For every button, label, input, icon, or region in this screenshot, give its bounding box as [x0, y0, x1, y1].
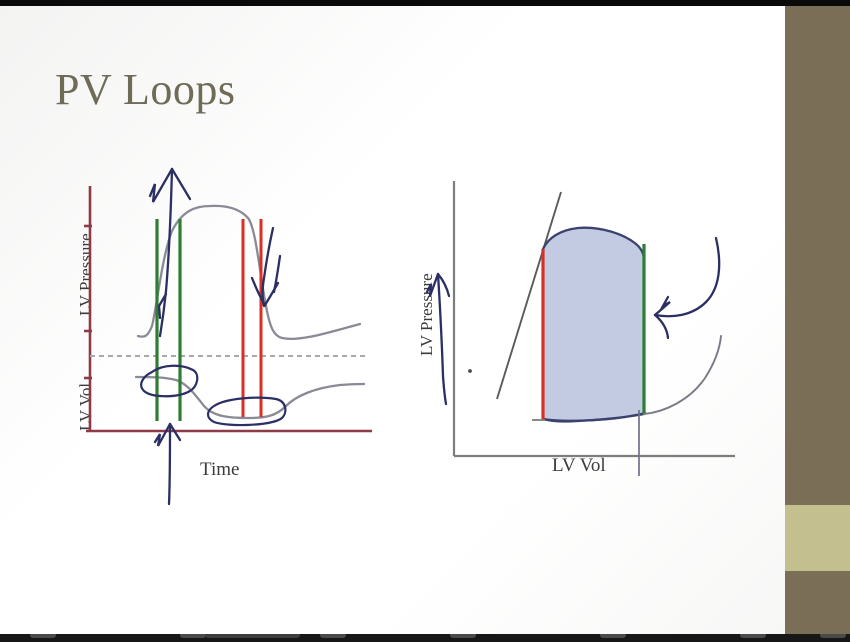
- right-chart-pv-loop-shape: [543, 228, 644, 422]
- annotation-up-arrow-baseline: [155, 424, 180, 504]
- page-title: PV Loops: [55, 64, 235, 115]
- left-chart-pressure-curve: [138, 206, 360, 339]
- player-bar-segment[interactable]: [30, 634, 56, 638]
- player-bar-segment[interactable]: [180, 634, 206, 638]
- presentation-slide: PV Loops LV Pressure LV Vol Time LV Pres…: [0, 6, 785, 636]
- video-frame: PV Loops LV Pressure LV Vol Time LV Pres…: [0, 0, 850, 642]
- left-chart-y-axis-label-volume: LV Vol: [76, 383, 96, 431]
- annotation-curved-arrow-to-green-edge: [655, 238, 719, 338]
- side-panel-light-band: [785, 505, 850, 571]
- annotation-down-arrow-relaxation: [252, 228, 280, 306]
- player-bar-segment[interactable]: [450, 634, 476, 638]
- left-chart-y-axis-label-pressure: LV Pressure: [76, 233, 96, 316]
- player-bar-segment[interactable]: [740, 634, 766, 638]
- left-chart: [84, 169, 372, 504]
- right-chart-loop-bottom-curve: [543, 413, 646, 421]
- player-bar-segment[interactable]: [205, 634, 300, 638]
- right-chart-edpvr-curve: [644, 336, 721, 414]
- side-panel: [785, 6, 850, 636]
- video-player-bar[interactable]: [0, 634, 850, 642]
- annotation-circle-end-systolic-volume: [208, 398, 285, 425]
- player-bar-segment[interactable]: [820, 634, 846, 638]
- right-chart-dot-marker: [468, 369, 472, 373]
- left-chart-x-axis-label: Time: [200, 459, 239, 481]
- right-chart-y-axis-label: LV Pressure: [417, 273, 437, 356]
- annotation-up-arrow-contraction: [150, 169, 190, 336]
- player-bar-segment[interactable]: [600, 634, 626, 638]
- right-chart-espvr-line: [497, 192, 561, 399]
- right-chart: [427, 181, 735, 476]
- right-chart-x-axis-label: LV Vol: [552, 455, 606, 477]
- annotation-circle-end-diastolic-volume: [141, 366, 197, 397]
- player-bar-segment[interactable]: [320, 634, 346, 638]
- left-chart-volume-curve: [136, 377, 364, 418]
